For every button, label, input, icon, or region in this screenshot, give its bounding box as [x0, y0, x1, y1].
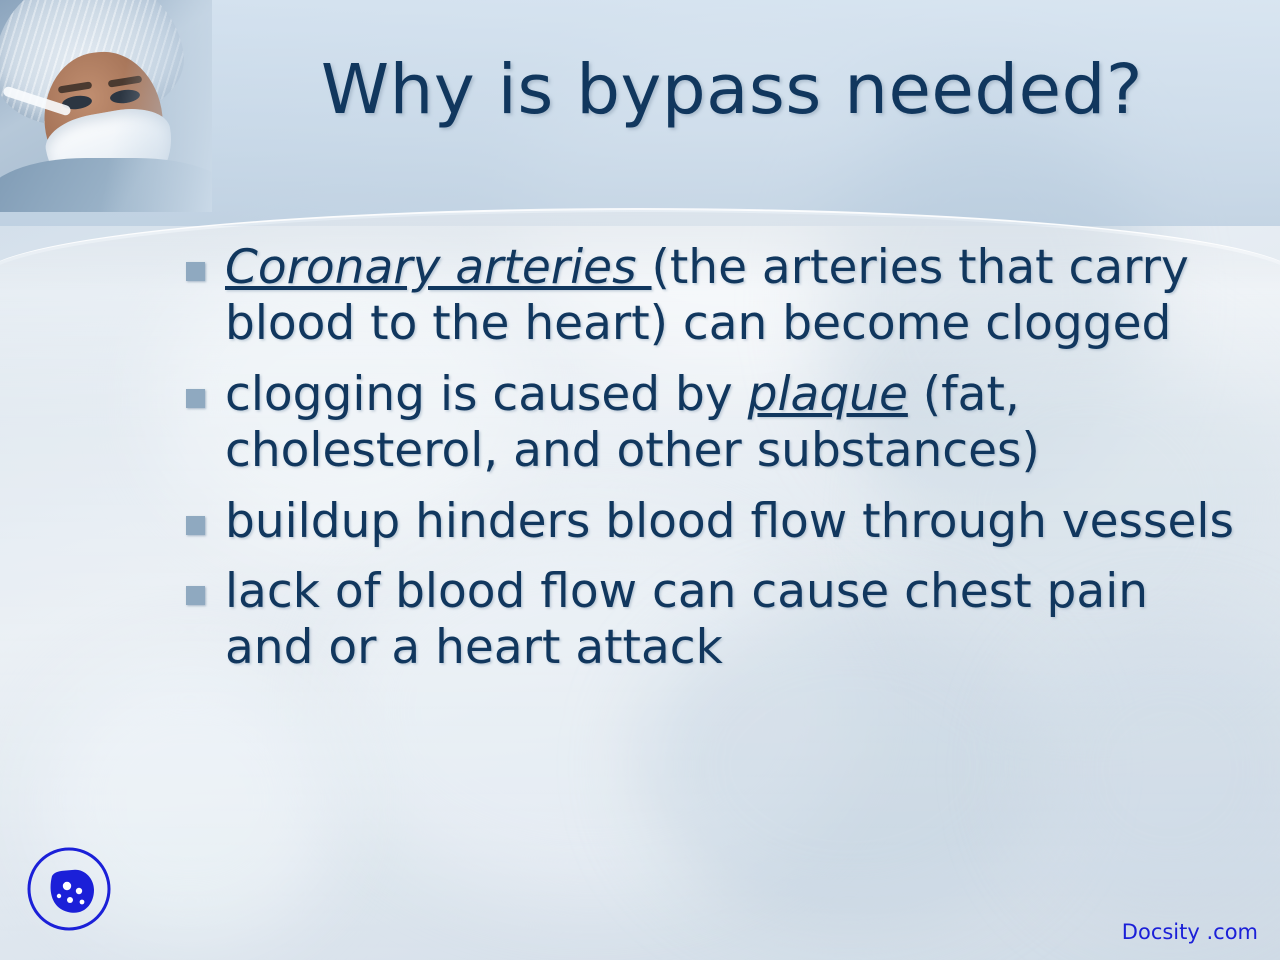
photo-fade-overlay: [0, 0, 212, 212]
list-item: Coronary arteries (the arteries that car…: [186, 240, 1246, 353]
surgeon-photo: [0, 0, 212, 212]
bullet-emphasis: Coronary arteries: [225, 240, 652, 295]
list-item: buildup hinders blood flow through vesse…: [186, 494, 1246, 550]
bullet-text: buildup hinders blood flow through vesse…: [225, 494, 1246, 550]
list-item: lack of blood flow can cause chest pain …: [186, 564, 1246, 677]
page-title: Why is bypass needed?: [212, 54, 1252, 126]
docsity-logo-icon[interactable]: [26, 846, 112, 932]
bullet-square-icon: [186, 389, 205, 408]
bullet-emphasis: plaque: [748, 367, 908, 422]
bullet-text: lack of blood flow can cause chest pain …: [225, 564, 1246, 677]
list-item: clogging is caused by plaque (fat, chole…: [186, 367, 1246, 480]
bullet-text: Coronary arteries (the arteries that car…: [225, 240, 1246, 353]
bullet-list: Coronary arteries (the arteries that car…: [186, 240, 1246, 691]
slide-canvas: Why is bypass needed? Coronary arteries …: [0, 0, 1280, 960]
bullet-square-icon: [186, 262, 205, 281]
bullet-prefix: clogging is caused by: [225, 367, 748, 422]
bullet-square-icon: [186, 586, 205, 605]
watermark: Docsity .com: [1122, 920, 1258, 944]
bullet-square-icon: [186, 516, 205, 535]
bullet-text: clogging is caused by plaque (fat, chole…: [225, 367, 1246, 480]
